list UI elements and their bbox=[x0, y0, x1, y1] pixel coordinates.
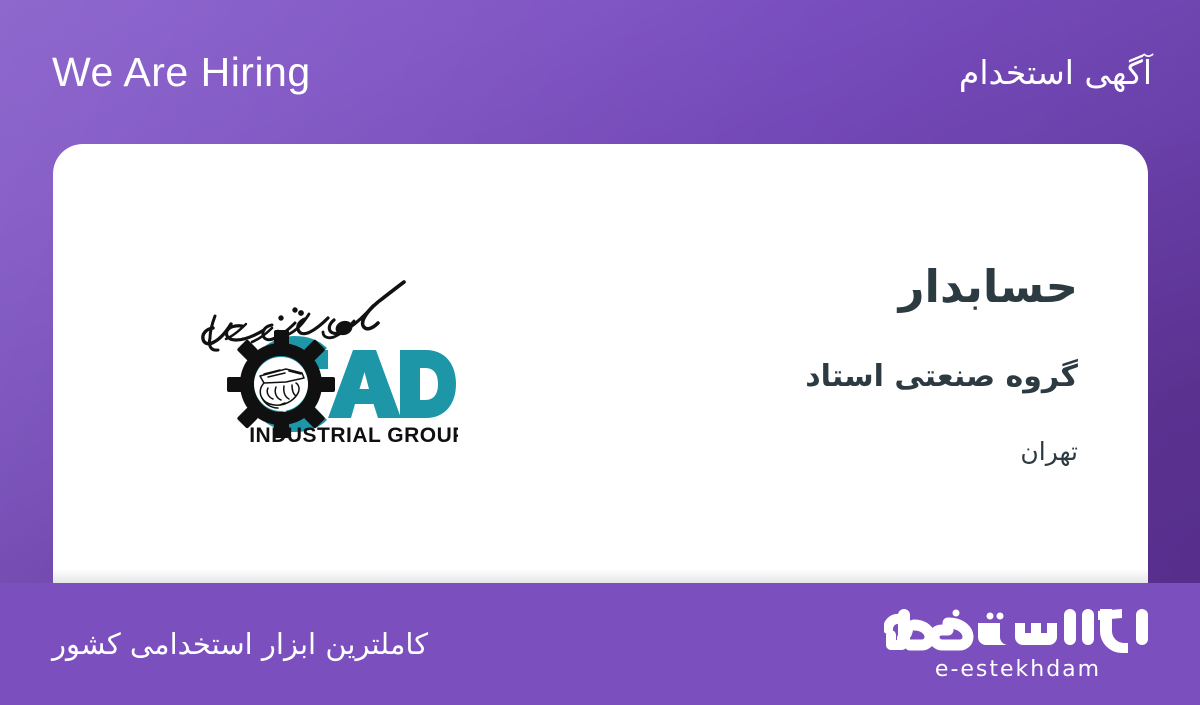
otad-industrial-group-logo-icon: INDUSTRIAL GROUP bbox=[168, 266, 458, 461]
job-card: حسابدار گروه صنعتی استاد تهران bbox=[53, 144, 1148, 583]
e-estekhdam-logo-icon bbox=[884, 607, 1152, 653]
poster-footer: کاملترین ابزار استخدامی کشور bbox=[0, 583, 1200, 705]
brand-latin-name: e-estekhdam bbox=[935, 659, 1101, 681]
job-title: حسابدار bbox=[623, 259, 1078, 315]
poster-header: We Are Hiring آگهی استخدام bbox=[0, 0, 1200, 144]
job-details: حسابدار گروه صنعتی استاد تهران bbox=[573, 259, 1078, 469]
e-estekhdam-brand: e-estekhdam bbox=[884, 607, 1152, 681]
footer-tagline: کاملترین ابزار استخدامی کشور bbox=[52, 630, 428, 659]
job-city: تهران bbox=[623, 436, 1078, 469]
header-english-title: We Are Hiring bbox=[52, 52, 311, 93]
company-logo: INDUSTRIAL GROUP bbox=[53, 144, 573, 583]
logo-inner-disc-icon bbox=[254, 357, 308, 411]
header-persian-title: آگهی استخدام bbox=[959, 56, 1152, 89]
logo-subtitle: INDUSTRIAL GROUP bbox=[249, 424, 458, 447]
job-poster: We Are Hiring آگهی استخدام حسابدار گروه … bbox=[0, 0, 1200, 705]
company-name: گروه صنعتی استاد bbox=[623, 357, 1078, 396]
